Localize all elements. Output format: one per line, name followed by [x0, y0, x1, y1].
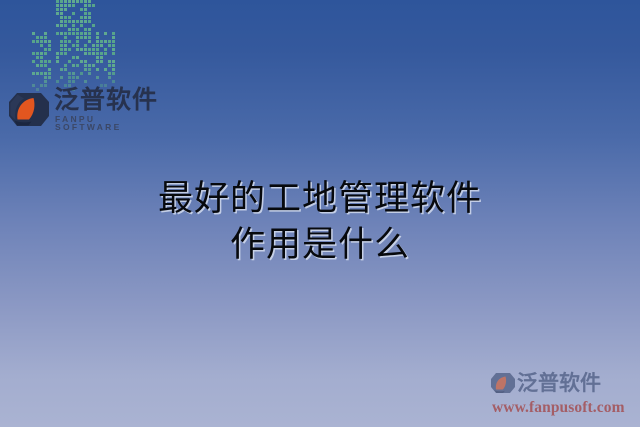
- skyline-dot: [76, 20, 79, 23]
- skyline-dot: [88, 68, 91, 71]
- skyline-dot: [48, 72, 51, 75]
- skyline-dot: [112, 40, 115, 43]
- skyline-dot: [44, 72, 47, 75]
- skyline-dot: [108, 76, 111, 79]
- skyline-dot: [72, 28, 75, 31]
- skyline-dot: [92, 44, 95, 47]
- skyline-dot: [60, 12, 63, 15]
- skyline-dot: [76, 36, 79, 39]
- skyline-dot: [68, 76, 71, 79]
- skyline-dot: [68, 0, 71, 3]
- skyline-dot: [60, 44, 63, 47]
- skyline-dot: [112, 48, 115, 51]
- skyline-dot: [64, 32, 67, 35]
- skyline-dot: [64, 0, 67, 3]
- skyline-dot: [64, 16, 67, 19]
- skyline-dot: [112, 80, 115, 83]
- watermark: 泛普软件 www.fanpusoft.com: [490, 369, 636, 421]
- skyline-dot: [44, 64, 47, 67]
- brand-logo-chinese: 泛普软件: [54, 87, 158, 112]
- skyline-dot: [88, 16, 91, 19]
- skyline-dot: [60, 24, 63, 27]
- skyline-dot: [56, 52, 59, 55]
- skyline-dot: [108, 60, 111, 63]
- skyline-dot: [40, 64, 43, 67]
- skyline-dot: [68, 80, 71, 83]
- skyline-dot: [48, 76, 51, 79]
- skyline-dot: [64, 4, 67, 7]
- skyline-dot: [112, 36, 115, 39]
- skyline-dot: [48, 68, 51, 71]
- skyline-dot: [84, 48, 87, 51]
- skyline-dot: [44, 48, 47, 51]
- skyline-dot: [56, 4, 59, 7]
- skyline-dot: [92, 64, 95, 67]
- skyline-dot: [84, 20, 87, 23]
- skyline-dot: [76, 76, 79, 79]
- skyline-dot: [36, 64, 39, 67]
- skyline-dot: [44, 32, 47, 35]
- brand-logo: 泛普软件 FANPU SOFTWARE: [8, 86, 158, 132]
- skyline-dot: [72, 12, 75, 15]
- skyline-dot: [36, 52, 39, 55]
- skyline-dot: [84, 0, 87, 3]
- fanpu-logo-mark-icon: [8, 89, 50, 129]
- skyline-dot: [100, 60, 103, 63]
- skyline-dot: [76, 40, 79, 43]
- skyline-dot: [104, 68, 107, 71]
- skyline-dot: [60, 76, 63, 79]
- skyline-dot: [96, 32, 99, 35]
- skyline-dot: [92, 24, 95, 27]
- skyline-dot: [56, 8, 59, 11]
- skyline-dot: [68, 48, 71, 51]
- promo-banner: 泛普软件 FANPU SOFTWARE 最好的工地管理软件 作用是什么 泛普软件…: [0, 0, 640, 427]
- skyline-dot: [36, 56, 39, 59]
- skyline-dot: [112, 64, 115, 67]
- skyline-dot: [60, 8, 63, 11]
- skyline-dot: [56, 32, 59, 35]
- skyline-dot: [80, 20, 83, 23]
- fanpu-logo-mark-icon: [490, 371, 516, 395]
- skyline-dot: [84, 44, 87, 47]
- skyline-dot: [96, 52, 99, 55]
- skyline-dot: [96, 40, 99, 43]
- skyline-dot: [68, 16, 71, 19]
- skyline-dot: [84, 28, 87, 31]
- skyline-dot: [84, 8, 87, 11]
- skyline-dot: [44, 40, 47, 43]
- skyline-dot: [68, 28, 71, 31]
- skyline-dot: [64, 44, 67, 47]
- watermark-url: www.fanpusoft.com: [490, 399, 636, 417]
- watermark-chinese: 泛普软件: [517, 373, 601, 394]
- skyline-dot: [56, 24, 59, 27]
- skyline-dot: [68, 20, 71, 23]
- skyline-dot: [36, 40, 39, 43]
- skyline-dot: [80, 48, 83, 51]
- skyline-dot: [64, 48, 67, 51]
- skyline-dot: [48, 44, 51, 47]
- skyline-dot: [68, 72, 71, 75]
- skyline-dot: [40, 40, 43, 43]
- skyline-dot: [64, 36, 67, 39]
- skyline-dot: [32, 72, 35, 75]
- skyline-dot: [44, 52, 47, 55]
- skyline-dot: [100, 40, 103, 43]
- skyline-dot: [84, 64, 87, 67]
- skyline-dot: [56, 80, 59, 83]
- skyline-dot: [60, 48, 63, 51]
- skyline-dot: [80, 36, 83, 39]
- skyline-dot: [96, 48, 99, 51]
- skyline-dot: [96, 76, 99, 79]
- skyline-dot: [56, 60, 59, 63]
- skyline-dot: [112, 68, 115, 71]
- skyline-dot: [60, 32, 63, 35]
- skyline-dot: [44, 36, 47, 39]
- skyline-dot: [104, 48, 107, 51]
- skyline-dot: [56, 56, 59, 59]
- skyline-dot: [64, 52, 67, 55]
- skyline-dot: [112, 44, 115, 47]
- skyline-dot: [40, 72, 43, 75]
- skyline-dot: [88, 52, 91, 55]
- skyline-dot: [104, 40, 107, 43]
- skyline-dot: [88, 20, 91, 23]
- skyline-dot: [36, 36, 39, 39]
- skyline-dot: [40, 36, 43, 39]
- skyline-dot: [44, 76, 47, 79]
- skyline-dot: [44, 60, 47, 63]
- skyline-dot: [108, 72, 111, 75]
- skyline-dot: [84, 4, 87, 7]
- skyline-dot: [92, 52, 95, 55]
- skyline-dot: [112, 32, 115, 35]
- skyline-dot: [88, 40, 91, 43]
- skyline-dot: [72, 4, 75, 7]
- skyline-dot: [64, 64, 67, 67]
- skyline-dot: [72, 64, 75, 67]
- skyline-dot: [80, 8, 83, 11]
- skyline-dot: [80, 72, 83, 75]
- skyline-dot: [88, 48, 91, 51]
- skyline-dot: [112, 60, 115, 63]
- skyline-dot: [100, 52, 103, 55]
- skyline-dot: [60, 68, 63, 71]
- skyline-dot: [32, 32, 35, 35]
- skyline-dot: [32, 40, 35, 43]
- skyline-dot: [60, 40, 63, 43]
- skyline-dot: [68, 4, 71, 7]
- skyline-dot: [80, 24, 83, 27]
- skyline-dot: [56, 0, 59, 3]
- skyline-dot: [88, 12, 91, 15]
- skyline-dot: [48, 40, 51, 43]
- skyline-dot: [72, 32, 75, 35]
- skyline-dot: [96, 56, 99, 59]
- skyline-dot: [88, 64, 91, 67]
- skyline-dot: [88, 4, 91, 7]
- skyline-dot: [100, 56, 103, 59]
- skyline-dot: [64, 8, 67, 11]
- skyline-dot: [84, 80, 87, 83]
- skyline-dot: [80, 16, 83, 19]
- skyline-dot: [60, 4, 63, 7]
- skyline-dot: [40, 52, 43, 55]
- skyline-dot: [68, 32, 71, 35]
- skyline-dot: [96, 36, 99, 39]
- skyline-dot: [72, 0, 75, 3]
- skyline-dot: [88, 0, 91, 3]
- skyline-dot: [56, 12, 59, 15]
- skyline-dot: [72, 44, 75, 47]
- skyline-dot: [72, 80, 75, 83]
- skyline-dot: [40, 44, 43, 47]
- skyline-dot: [84, 68, 87, 71]
- skyline-dot: [76, 32, 79, 35]
- skyline-dot: [64, 20, 67, 23]
- skyline-dot: [88, 36, 91, 39]
- skyline-dot: [72, 76, 75, 79]
- skyline-dot: [88, 72, 91, 75]
- skyline-dot: [108, 44, 111, 47]
- skyline-dot: [48, 48, 51, 51]
- skyline-dot: [76, 48, 79, 51]
- skyline-dot: [84, 12, 87, 15]
- skyline-dot: [32, 52, 35, 55]
- skyline-dot: [72, 24, 75, 27]
- skyline-dot: [112, 52, 115, 55]
- skyline-dot: [64, 40, 67, 43]
- skyline-dot: [60, 20, 63, 23]
- page-title-line-1: 最好的工地管理软件: [0, 176, 640, 222]
- skyline-dot: [84, 52, 87, 55]
- skyline-dot: [44, 80, 47, 83]
- skyline-dot: [80, 0, 83, 3]
- skyline-dot: [88, 28, 91, 31]
- skyline-dot: [84, 36, 87, 39]
- skyline-dot: [84, 60, 87, 63]
- skyline-dot: [76, 28, 79, 31]
- skyline-dot: [72, 56, 75, 59]
- brand-logo-english: FANPU SOFTWARE: [55, 115, 158, 132]
- skyline-dot: [96, 60, 99, 63]
- skyline-dot: [76, 56, 79, 59]
- skyline-dot: [64, 68, 67, 71]
- skyline-dot: [104, 52, 107, 55]
- skyline-dot: [84, 16, 87, 19]
- skyline-dot: [72, 72, 75, 75]
- skyline-dot: [108, 40, 111, 43]
- dot-matrix-city-skyline: [28, 0, 120, 90]
- skyline-dot: [32, 60, 35, 63]
- skyline-dot: [76, 0, 79, 3]
- skyline-dot: [100, 44, 103, 47]
- skyline-dot: [72, 20, 75, 23]
- skyline-dot: [88, 32, 91, 35]
- skyline-dot: [60, 52, 63, 55]
- skyline-dot: [80, 60, 83, 63]
- page-title: 最好的工地管理软件 作用是什么: [0, 176, 640, 268]
- skyline-dot: [76, 44, 79, 47]
- skyline-dot: [68, 60, 71, 63]
- skyline-dot: [60, 0, 63, 3]
- skyline-dot: [84, 32, 87, 35]
- skyline-dot: [80, 32, 83, 35]
- skyline-dot: [40, 60, 43, 63]
- skyline-dot: [40, 56, 43, 59]
- skyline-dot: [112, 72, 115, 75]
- skyline-dot: [68, 40, 71, 43]
- skyline-dot: [48, 60, 51, 63]
- skyline-dot: [76, 64, 79, 67]
- skyline-dot: [92, 4, 95, 7]
- skyline-dot: [60, 16, 63, 19]
- skyline-dot: [96, 44, 99, 47]
- skyline-dot: [104, 32, 107, 35]
- skyline-dot: [108, 64, 111, 67]
- skyline-dot: [36, 72, 39, 75]
- watermark-brand-row: 泛普软件: [490, 369, 636, 397]
- skyline-dot: [96, 68, 99, 71]
- skyline-dot: [64, 24, 67, 27]
- page-title-line-2: 作用是什么: [0, 222, 640, 268]
- skyline-dot: [92, 48, 95, 51]
